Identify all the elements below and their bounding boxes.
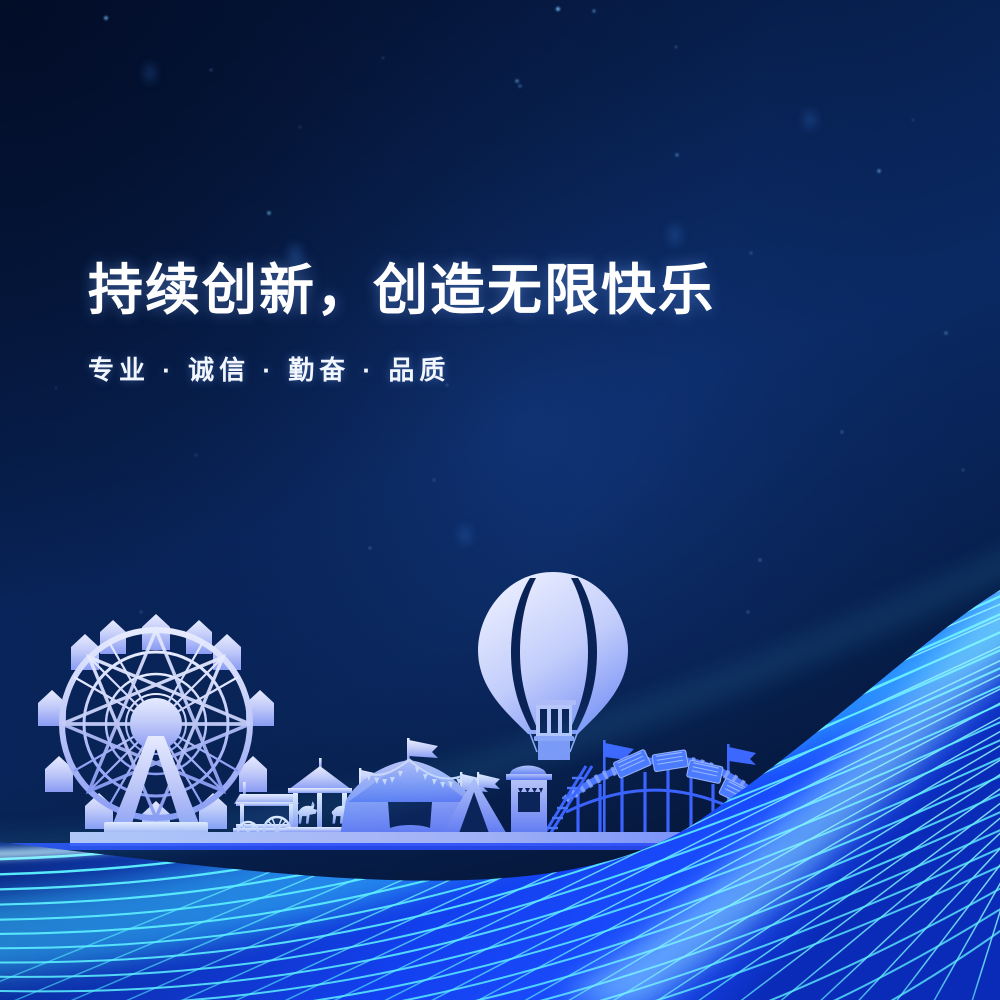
glowing-wave-mesh — [0, 0, 1000, 1000]
page-title: 持续创新，创造无限快乐 — [88, 262, 715, 320]
page-subtitle: 专业 · 诚信 · 勤奋 · 品质 — [88, 320, 715, 385]
headline-block: 持续创新，创造无限快乐 专业 · 诚信 · 勤奋 · 品质 — [88, 262, 715, 384]
poster-canvas: 持续创新，创造无限快乐 专业 · 诚信 · 勤奋 · 品质 — [0, 0, 1000, 1000]
